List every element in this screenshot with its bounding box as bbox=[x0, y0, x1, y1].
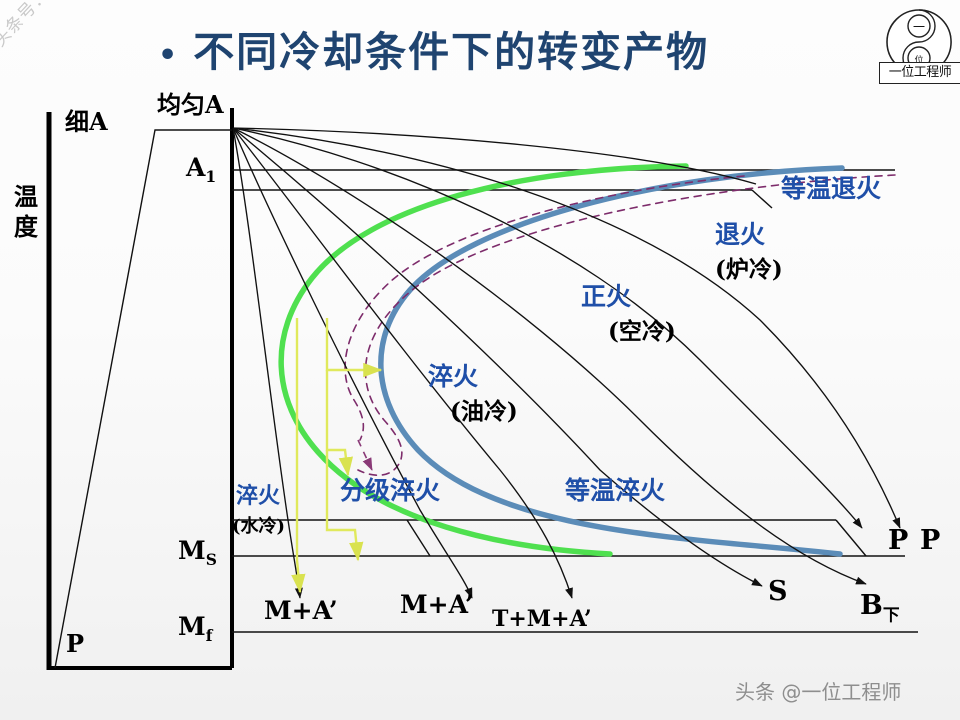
label-normalizing: 正火 bbox=[581, 284, 631, 309]
label-fine-austenite: 细A bbox=[65, 110, 108, 134]
axis-group bbox=[49, 108, 232, 670]
slide-canvas: 头条号：一位工程师 •不同冷却条件下的转变产物 一 位 一位工程师 bbox=[0, 0, 960, 720]
product-m-a-graded: M+A’ bbox=[400, 592, 474, 617]
label-austempering: 等温淬火 bbox=[565, 478, 665, 503]
path-quench-water-vertical bbox=[297, 318, 300, 592]
cooling-isothermal-annealing bbox=[233, 128, 756, 184]
isothermal-anneal-drop bbox=[752, 190, 772, 208]
product-b-lower: B下 bbox=[860, 592, 900, 623]
axis-mark-Mf: Mf bbox=[178, 614, 212, 644]
reference-lines bbox=[232, 170, 918, 632]
label-water-quenching-sub: (水冷) bbox=[232, 518, 285, 536]
path-dashed-arrow bbox=[358, 440, 372, 470]
austemper-hold-drop bbox=[836, 520, 866, 556]
label-martempering: 分级淬火 bbox=[340, 478, 440, 503]
product-m-a-water: M+A’ bbox=[264, 598, 338, 623]
label-uniform-austenite: 均匀A bbox=[157, 93, 224, 117]
product-p-annealing: P bbox=[888, 527, 908, 554]
heating-schedule bbox=[55, 130, 232, 668]
cooling-quench-s-branch bbox=[233, 128, 762, 586]
axis-mark-A1: A1 bbox=[186, 155, 216, 185]
label-isothermal-annealing: 等温退火 bbox=[781, 176, 881, 201]
martemper-hold-drop bbox=[407, 520, 430, 556]
ttt-diagram bbox=[0, 0, 960, 720]
label-oil-quenching: 淬火 bbox=[428, 364, 478, 389]
axis-mark-Ms: MS bbox=[178, 538, 217, 568]
label-start-pearlite: P bbox=[66, 632, 84, 656]
path-martempering-step2 bbox=[327, 370, 348, 475]
product-t-m-a: T+M+A’ bbox=[492, 608, 592, 630]
label-water-quenching: 淬火 bbox=[236, 485, 280, 507]
label-oil-quenching-sub: (油冷) bbox=[450, 400, 518, 423]
label-annealing-sub: (炉冷) bbox=[715, 258, 783, 281]
label-normalizing-sub: (空冷) bbox=[608, 320, 676, 343]
watermark-bottom: 头条 @一位工程师 bbox=[735, 676, 901, 705]
product-s: S bbox=[768, 578, 788, 605]
heating-ramp bbox=[55, 130, 232, 668]
label-annealing: 退火 bbox=[715, 222, 765, 247]
product-p-isothermal: P bbox=[920, 527, 940, 554]
y-axis-label: 温 度 bbox=[14, 182, 38, 242]
